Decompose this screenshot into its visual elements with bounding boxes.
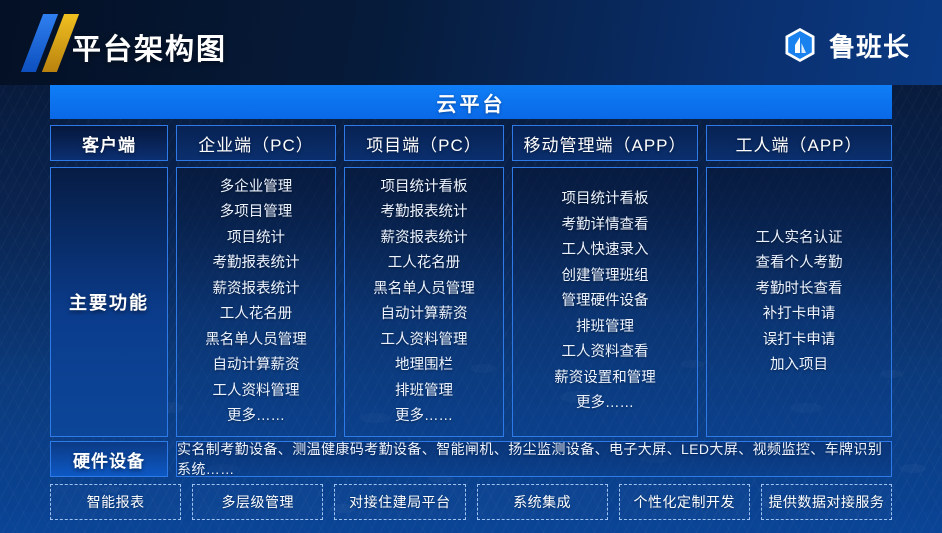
feature-item: 更多…… [227,404,285,430]
brand-logo: 鲁班长 [781,26,910,64]
column-header-worker-app: 工人端（APP） [706,125,892,161]
feature-item: 项目统计 [227,226,285,252]
feature-item: 管理硬件设备 [562,289,649,315]
feature-item: 自动计算薪资 [381,302,468,328]
row-label-main-features: 主要功能 [50,167,168,437]
feature-item: 薪资报表统计 [381,226,468,252]
service-tag[interactable]: 系统集成 [477,484,608,520]
feature-list-enterprise-pc: 多企业管理多项目管理项目统计考勤报表统计薪资报表统计工人花名册黑名单人员管理自动… [176,167,336,437]
platform-architecture-diagram: 平台架构图 鲁班长 云平台 客户端 企业端（PC） 项目端（PC） 移动管理端（… [0,0,942,533]
feature-item: 工人资料管理 [213,379,300,405]
feature-item: 更多…… [576,391,634,417]
hexagon-building-icon [781,26,819,64]
feature-item: 创建管理班组 [562,264,649,290]
hardware-device-list: 实名制考勤设备、测温健康码考勤设备、智能闸机、扬尘监测设备、电子大屏、LED大屏… [176,441,892,477]
feature-item: 地理围栏 [395,353,453,379]
feature-item: 多企业管理 [220,175,293,201]
cloud-platform-bar: 云平台 [50,85,892,119]
feature-item: 考勤报表统计 [381,200,468,226]
column-header-enterprise-pc: 企业端（PC） [176,125,336,161]
feature-item: 加入项目 [770,353,828,379]
feature-item: 工人资料查看 [562,340,649,366]
feature-list-project-pc: 项目统计看板考勤报表统计薪资报表统计工人花名册黑名单人员管理自动计算薪资工人资料… [344,167,504,437]
feature-item: 项目统计看板 [381,175,468,201]
service-tag[interactable]: 多层级管理 [192,484,323,520]
feature-item: 考勤报表统计 [213,251,300,277]
feature-item: 排班管理 [576,315,634,341]
service-tag[interactable]: 对接住建局平台 [334,484,465,520]
feature-item: 工人资料管理 [381,328,468,354]
feature-item: 工人花名册 [220,302,293,328]
feature-item: 排班管理 [395,379,453,405]
feature-item: 查看个人考勤 [756,251,843,277]
feature-item: 考勤详情查看 [562,213,649,239]
service-tag[interactable]: 智能报表 [50,484,181,520]
feature-list-worker-app: 工人实名认证查看个人考勤考勤时长查看补打卡申请误打卡申请加入项目 [706,167,892,437]
service-tag[interactable]: 提供数据对接服务 [761,484,892,520]
row-label-hardware: 硬件设备 [50,441,168,477]
feature-item: 薪资设置和管理 [554,366,656,392]
brand-name: 鲁班长 [829,27,910,64]
feature-item: 黑名单人员管理 [373,277,475,303]
feature-item: 误打卡申请 [763,328,836,354]
feature-item: 多项目管理 [220,200,293,226]
service-tag[interactable]: 个性化定制开发 [619,484,750,520]
column-header-mobile-app: 移动管理端（APP） [512,125,698,161]
feature-item: 更多…… [395,404,453,430]
column-header-project-pc: 项目端（PC） [344,125,504,161]
feature-item: 薪资报表统计 [213,277,300,303]
feature-item: 工人快速录入 [562,238,649,264]
feature-item: 项目统计看板 [562,187,649,213]
feature-item: 考勤时长查看 [756,277,843,303]
feature-item: 工人实名认证 [756,226,843,252]
feature-item: 补打卡申请 [763,302,836,328]
feature-item: 工人花名册 [388,251,461,277]
service-tag-row: 智能报表多层级管理对接住建局平台系统集成个性化定制开发提供数据对接服务 [50,484,892,520]
page-title: 平台架构图 [72,26,227,68]
feature-list-mobile-app: 项目统计看板考勤详情查看工人快速录入创建管理班组管理硬件设备排班管理工人资料查看… [512,167,698,437]
feature-item: 黑名单人员管理 [205,328,307,354]
row-label-client: 客户端 [50,125,168,161]
feature-item: 自动计算薪资 [213,353,300,379]
page-header: 平台架构图 鲁班长 [0,0,942,85]
